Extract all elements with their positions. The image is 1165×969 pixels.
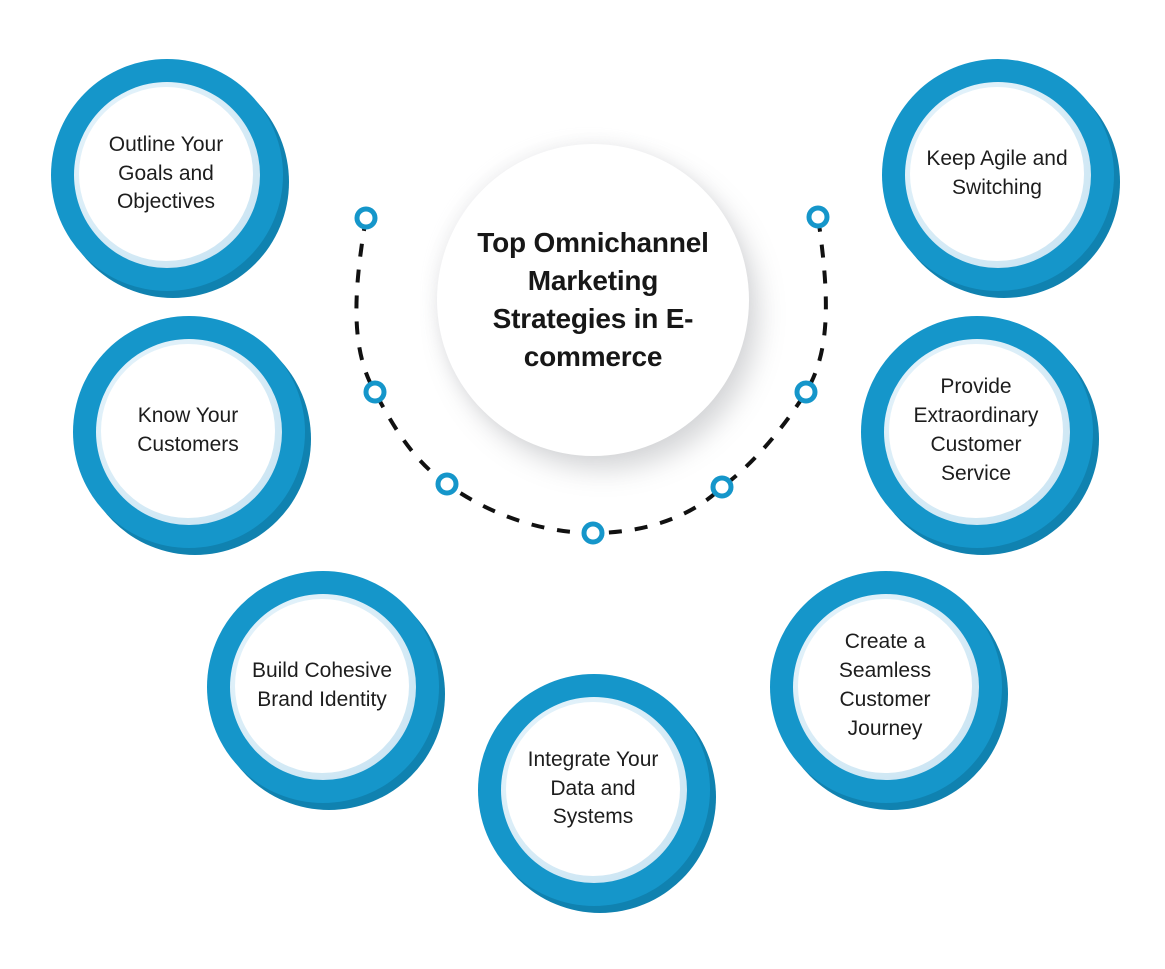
arc-node-marker-7[interactable] (809, 208, 827, 226)
strategy-bubble-extraordinary-service[interactable]: Provide Extraordinary Customer Service (861, 316, 1093, 548)
bubble-face: Create a Seamless Customer Journey (798, 599, 972, 773)
strategy-bubble-brand-identity[interactable]: Build Cohesive Brand Identity (207, 571, 439, 803)
arc-node-marker-1[interactable] (357, 209, 375, 227)
strategy-bubble-outline-goals[interactable]: Outline Your Goals and Objectives (51, 59, 283, 291)
arc-node-marker-5[interactable] (713, 478, 731, 496)
bubble-face: Build Cohesive Brand Identity (235, 599, 409, 773)
arc-node-marker-4[interactable] (584, 524, 602, 542)
arc-node-marker-2[interactable] (366, 383, 384, 401)
strategy-bubble-seamless-journey[interactable]: Create a Seamless Customer Journey (770, 571, 1002, 803)
bubble-label: Provide Extraordinary Customer Service (889, 373, 1063, 489)
bubble-label: Keep Agile and Switching (910, 145, 1084, 203)
bubble-label: Build Cohesive Brand Identity (235, 657, 409, 715)
bubble-label: Create a Seamless Customer Journey (798, 628, 972, 744)
infographic-canvas: Top Omnichannel Marketing Strategies in … (0, 0, 1165, 969)
bubble-label: Outline Your Goals and Objectives (79, 131, 253, 218)
bubble-face: Outline Your Goals and Objectives (79, 87, 253, 261)
bubble-face: Integrate Your Data and Systems (506, 702, 680, 876)
central-hub: Top Omnichannel Marketing Strategies in … (437, 144, 749, 456)
bubble-face: Provide Extraordinary Customer Service (889, 344, 1063, 518)
bubble-face: Know Your Customers (101, 344, 275, 518)
strategy-bubble-integrate-data[interactable]: Integrate Your Data and Systems (478, 674, 710, 906)
bubble-label: Integrate Your Data and Systems (506, 746, 680, 833)
arc-node-marker-3[interactable] (438, 475, 456, 493)
page-title: Top Omnichannel Marketing Strategies in … (437, 224, 749, 375)
strategy-bubble-keep-agile[interactable]: Keep Agile and Switching (882, 59, 1114, 291)
strategy-bubble-know-customers[interactable]: Know Your Customers (73, 316, 305, 548)
arc-node-marker-6[interactable] (797, 383, 815, 401)
bubble-label: Know Your Customers (101, 402, 275, 460)
bubble-face: Keep Agile and Switching (910, 87, 1084, 261)
